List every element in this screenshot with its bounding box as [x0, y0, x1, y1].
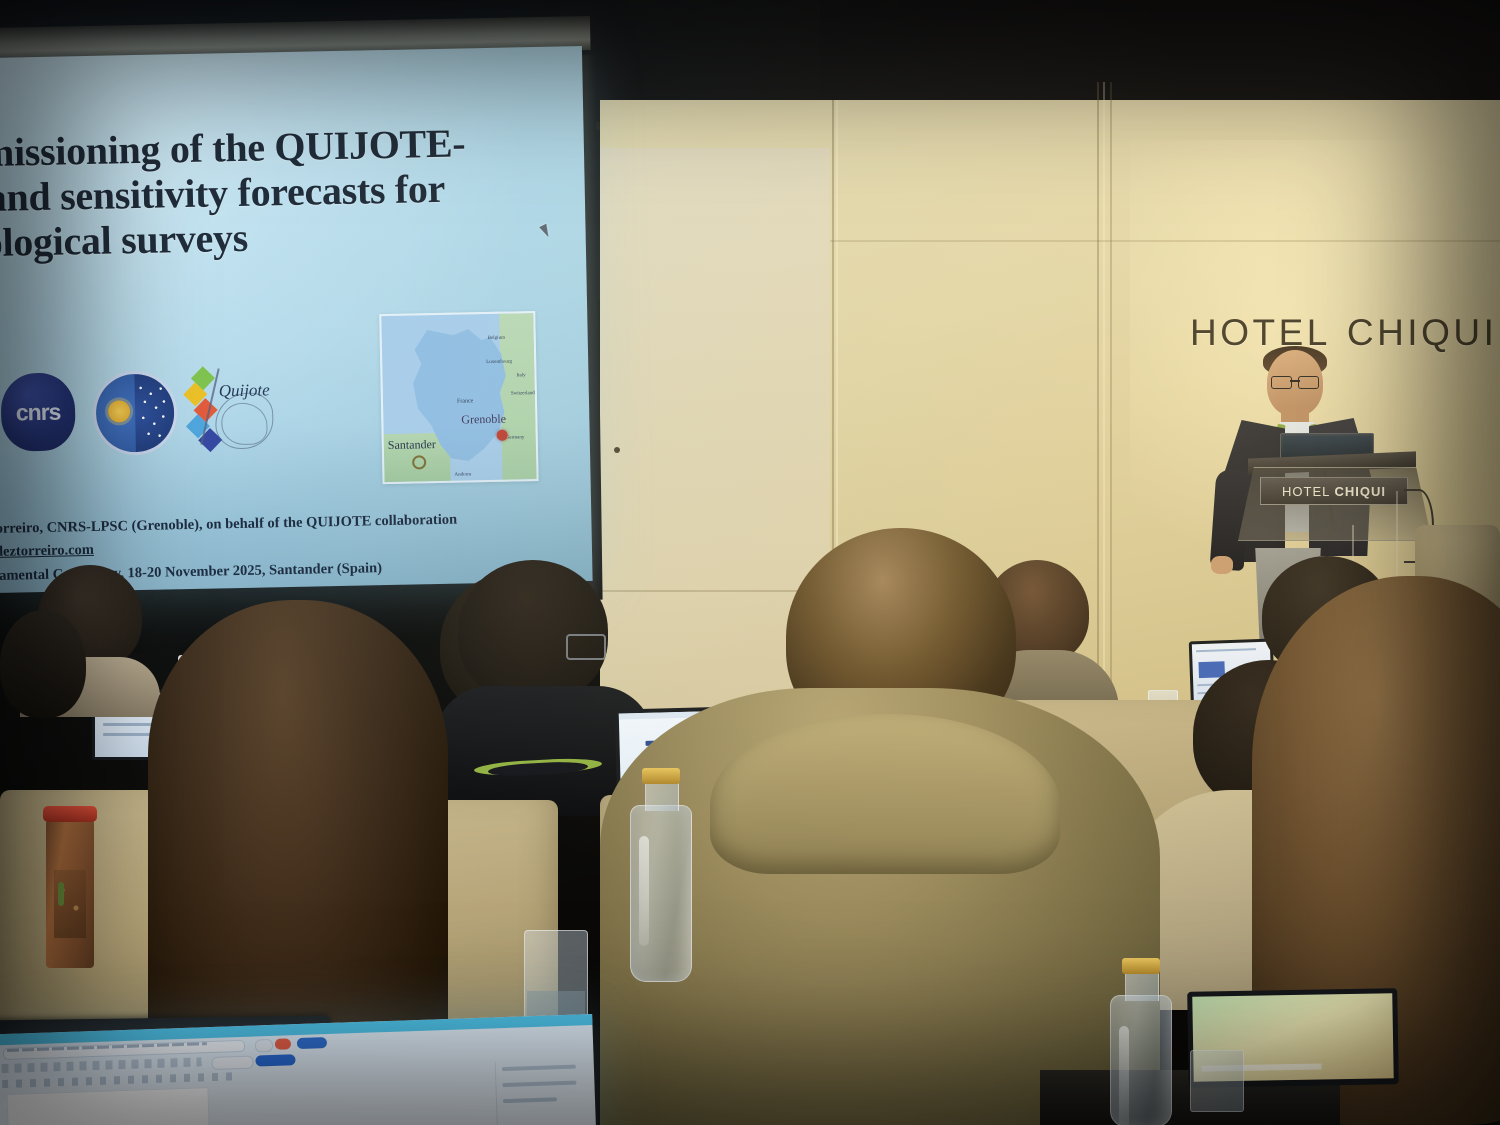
editor-toolbar-row[interactable] [1, 1057, 201, 1073]
lectern-plaque-word-2: CHIQUI [1334, 484, 1386, 499]
cnrs-logo: cnrs [0, 372, 76, 451]
browser-icon-button[interactable] [255, 1039, 273, 1053]
mug-lid [43, 806, 97, 822]
slide-map-inset: France Belgium Luxembourg Switzerland It… [379, 311, 538, 484]
glasses-bridge [1290, 380, 1300, 382]
map-label-luxembourg: Luxembourg [486, 360, 512, 366]
side-panel-row[interactable] [502, 1065, 576, 1072]
side-panel-row[interactable] [502, 1081, 576, 1088]
map-label-santander: Santander [388, 437, 436, 453]
browser-account-badge[interactable] [275, 1038, 291, 1050]
glass-water-bottle [630, 805, 692, 982]
editor-format-row[interactable] [2, 1072, 232, 1088]
lectern-plaque-text: HOTEL CHIQUI [1282, 484, 1386, 499]
wall-seam [830, 240, 1500, 242]
bottle-highlight [1119, 1026, 1129, 1125]
mug-cactus-graphic [58, 882, 64, 906]
laptop-screen[interactable] [0, 1014, 610, 1125]
conference-photo-scene: HOTELCHIQUI mmissioning of the QUIJOTE- … [0, 0, 1500, 1125]
bottle-neck [645, 780, 679, 811]
iac-stars-icon [138, 383, 169, 442]
small-water-glass [1190, 1050, 1244, 1112]
map-label-belgium: Belgium [488, 336, 505, 341]
quijote-logo: Quijote [184, 362, 278, 452]
bottle-cap [642, 768, 680, 784]
share-button[interactable] [255, 1054, 295, 1066]
speaker-hand [1211, 556, 1233, 574]
lectern-plaque-word-1: HOTEL [1282, 484, 1330, 499]
browser-primary-button[interactable] [297, 1037, 327, 1049]
glass-water-bottle [1110, 995, 1172, 1125]
hotel-wall-sign: HOTELCHIQUI [1190, 312, 1497, 354]
map-label-andorra: Andorra [454, 472, 471, 477]
cnrs-logo-label: cnrs [16, 398, 61, 426]
wall-fixture-dot [614, 447, 620, 453]
travel-mug [46, 818, 94, 968]
map-label-france: France [457, 398, 473, 404]
side-panel-row[interactable] [503, 1097, 557, 1103]
person-head [0, 610, 86, 718]
side-panel[interactable] [495, 1058, 607, 1125]
audience-person [0, 610, 130, 760]
screen-line [1196, 648, 1256, 652]
lectern-plaque: HOTEL CHIQUI [1260, 477, 1408, 505]
map-label-germany: Germany [506, 435, 525, 440]
quijote-logo-label: Quijote [219, 380, 270, 401]
iac-logo [92, 370, 178, 456]
map-label-switzerland: Switzerland [511, 391, 535, 396]
foreground-laptop[interactable] [0, 1016, 333, 1125]
slide-logo-row: cnrs Quijote [0, 361, 254, 459]
map-label-grenoble: Grenoble [461, 412, 506, 428]
bottle-neck [1125, 970, 1159, 1001]
water-tumbler [524, 930, 588, 1028]
bottle-cap [1122, 958, 1160, 974]
slide-title-line-3: mological surveys [0, 209, 550, 266]
map-label-italy: Italy [516, 373, 525, 378]
document-canvas[interactable] [6, 1087, 224, 1125]
person-head [458, 560, 608, 702]
present-button[interactable] [211, 1056, 253, 1070]
eyeglasses-icon [1271, 376, 1319, 387]
bottle-highlight [639, 836, 649, 946]
slide-title: mmissioning of the QUIJOTE- -I and sensi… [0, 119, 550, 267]
hotel-sign-word-2: CHIQUI [1347, 312, 1498, 353]
projection-screen: mmissioning of the QUIJOTE- -I and sensi… [0, 46, 593, 593]
